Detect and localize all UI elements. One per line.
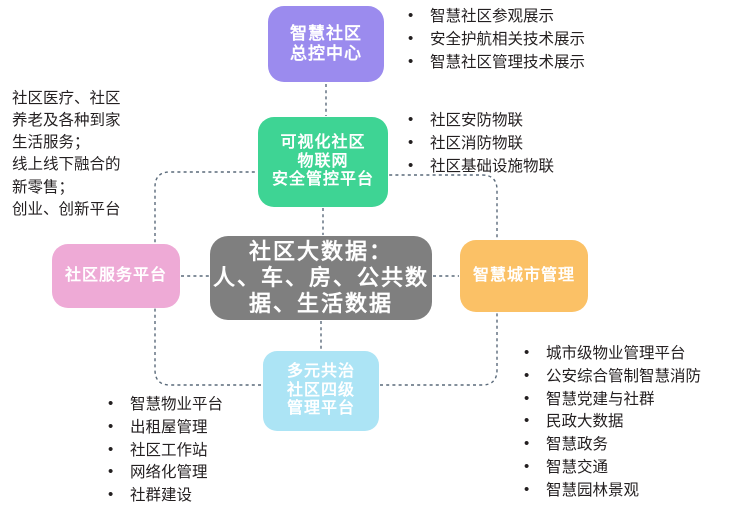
list-item: 智慧园林景观	[520, 480, 701, 503]
annotation-left-services: 社区医疗、社区 养老及各种到家 生活服务； 线上线下融合的 新零售； 创业、创新…	[12, 88, 187, 221]
list-item: 社区基础设施物联	[404, 156, 554, 179]
list-item: 出租屋管理	[104, 417, 223, 440]
annotation-four-level-bullets: 智慧物业平台 出租屋管理 社区工作站 网络化管理 社群建设	[104, 394, 223, 508]
annotation-city-bullets: 城市级物业管理平台 公安综合管制智慧消防 智慧党建与社群 民政大数据 智慧政务 …	[520, 343, 701, 502]
list-item: 网络化管理	[104, 462, 223, 485]
list-item: 智慧物业平台	[104, 394, 223, 417]
list-item: 智慧社区管理技术展示	[404, 52, 585, 75]
node-command-center-label: 智慧社区 总控中心	[290, 24, 362, 64]
node-four-level-platform[interactable]: 多元共治 社区四级 管理平台	[263, 351, 379, 431]
node-community-service-platform-label: 社区服务平台	[65, 267, 167, 286]
list-item: 公安综合管制智慧消防	[520, 366, 701, 389]
list-item: 社群建设	[104, 485, 223, 508]
node-community-big-data-label: 社区大数据： 人、车、房、公共数 据、生活数据	[213, 239, 429, 317]
node-smart-city-management-label: 智慧城市管理	[473, 267, 575, 286]
list-item: 智慧政务	[520, 434, 701, 457]
node-smart-city-management[interactable]: 智慧城市管理	[460, 240, 588, 312]
node-four-level-platform-label: 多元共治 社区四级 管理平台	[287, 363, 355, 420]
list-item: 社区安防物联	[404, 110, 554, 133]
list-item: 民政大数据	[520, 411, 701, 434]
node-iot-security-platform[interactable]: 可视化社区 物联网 安全管控平台	[258, 117, 388, 207]
node-command-center[interactable]: 智慧社区 总控中心	[268, 6, 384, 82]
list-item: 社区工作站	[104, 440, 223, 463]
node-community-service-platform[interactable]: 社区服务平台	[52, 244, 180, 308]
list-item: 智慧交通	[520, 457, 701, 480]
list-item: 城市级物业管理平台	[520, 343, 701, 366]
diagram-canvas: 智慧社区 总控中心 可视化社区 物联网 安全管控平台 社区大数据： 人、车、房、…	[0, 0, 740, 512]
annotation-command-center-bullets: 智慧社区参观展示 安全护航相关技术展示 智慧社区管理技术展示	[404, 6, 585, 74]
list-item: 智慧社区参观展示	[404, 6, 585, 29]
list-item: 安全护航相关技术展示	[404, 29, 585, 52]
node-community-big-data[interactable]: 社区大数据： 人、车、房、公共数 据、生活数据	[210, 236, 432, 320]
annotation-iot-bullets: 社区安防物联 社区消防物联 社区基础设施物联	[404, 110, 554, 178]
node-iot-security-platform-label: 可视化社区 物联网 安全管控平台	[272, 134, 374, 191]
list-item: 社区消防物联	[404, 133, 554, 156]
list-item: 智慧党建与社群	[520, 389, 701, 412]
